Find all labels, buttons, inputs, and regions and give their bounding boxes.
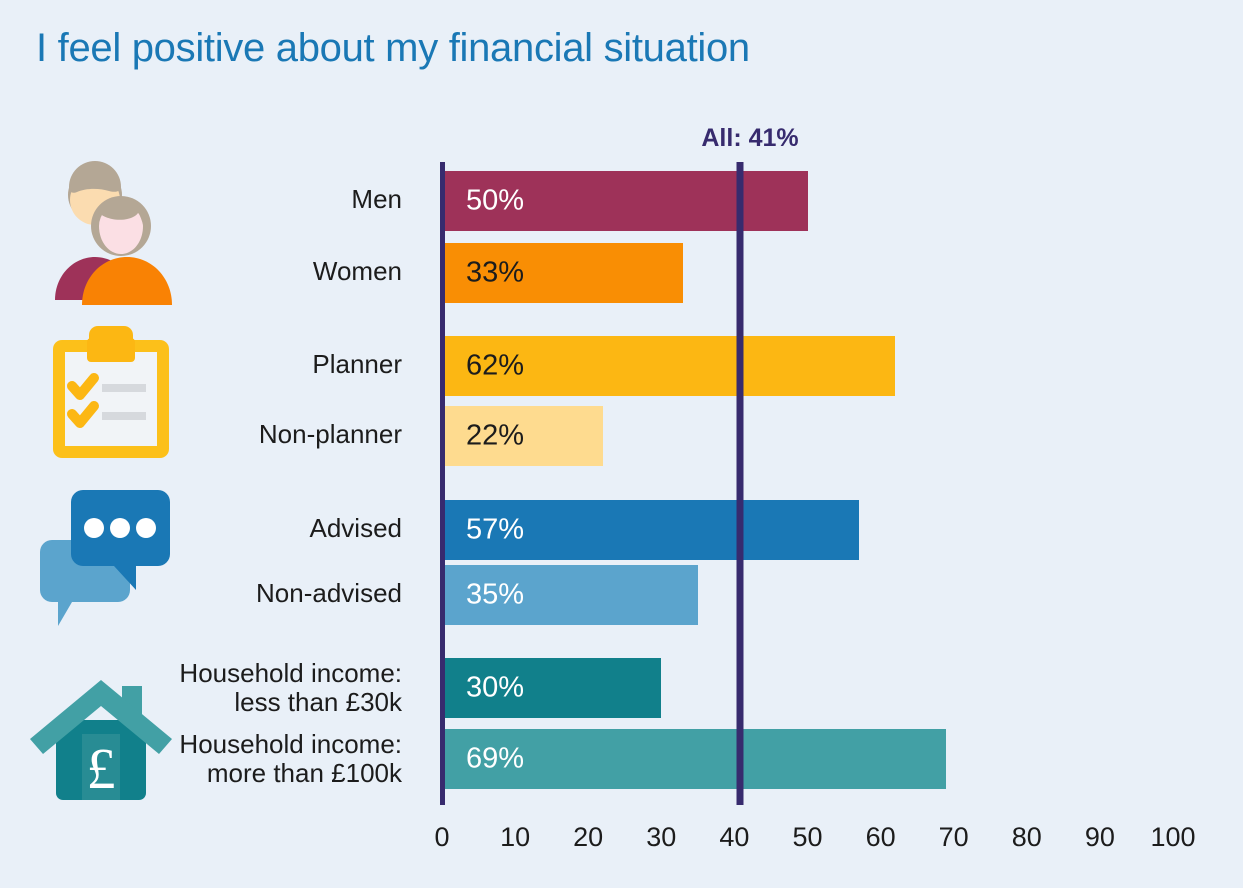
category-label: Men bbox=[0, 185, 420, 214]
x-tick-90: 90 bbox=[1085, 822, 1115, 853]
x-tick-10: 10 bbox=[500, 822, 530, 853]
bar-value-label: 69% bbox=[466, 743, 524, 776]
category-label: Non-advised bbox=[0, 579, 420, 608]
x-tick-60: 60 bbox=[866, 822, 896, 853]
y-axis-line bbox=[440, 162, 445, 805]
bar-planner: 62% bbox=[442, 336, 895, 396]
bar-value-label: 30% bbox=[466, 672, 524, 705]
speech-bubbles-icon bbox=[32, 490, 177, 632]
x-tick-80: 80 bbox=[1012, 822, 1042, 853]
bar-value-label: 50% bbox=[466, 185, 524, 218]
bar-non-advised: 35% bbox=[442, 565, 698, 625]
bar-value-label: 33% bbox=[466, 257, 524, 290]
category-label: Household income: less than £30k bbox=[0, 659, 420, 718]
category-label: Household income: more than £100k bbox=[0, 730, 420, 789]
x-tick-30: 30 bbox=[646, 822, 676, 853]
bar-advised: 57% bbox=[442, 500, 859, 560]
reference-line-label: All: 41% bbox=[701, 124, 798, 153]
category-label: Women bbox=[0, 257, 420, 286]
bar-men: 50% bbox=[442, 171, 808, 231]
bar-women: 33% bbox=[442, 243, 683, 303]
x-tick-50: 50 bbox=[792, 822, 822, 853]
category-label: Planner bbox=[0, 350, 420, 379]
bar-value-label: 22% bbox=[466, 420, 524, 453]
bar-household-income-more-than-100k: 69% bbox=[442, 729, 946, 789]
category-label: Advised bbox=[0, 514, 420, 543]
bar-value-label: 57% bbox=[466, 514, 524, 547]
x-tick-40: 40 bbox=[719, 822, 749, 853]
bar-non-planner: 22% bbox=[442, 406, 603, 466]
bar-value-label: 62% bbox=[466, 350, 524, 383]
bar-household-income-less-than-30k: 30% bbox=[442, 658, 661, 718]
chart-container: I feel positive about my financial situa… bbox=[0, 0, 1243, 888]
x-tick-0: 0 bbox=[434, 822, 449, 853]
bar-value-label: 35% bbox=[466, 579, 524, 612]
x-tick-20: 20 bbox=[573, 822, 603, 853]
reference-line-all bbox=[737, 162, 744, 805]
x-tick-70: 70 bbox=[939, 822, 969, 853]
x-tick-100: 100 bbox=[1150, 822, 1195, 853]
page-title: I feel positive about my financial situa… bbox=[36, 26, 750, 71]
category-label: Non-planner bbox=[0, 420, 420, 449]
